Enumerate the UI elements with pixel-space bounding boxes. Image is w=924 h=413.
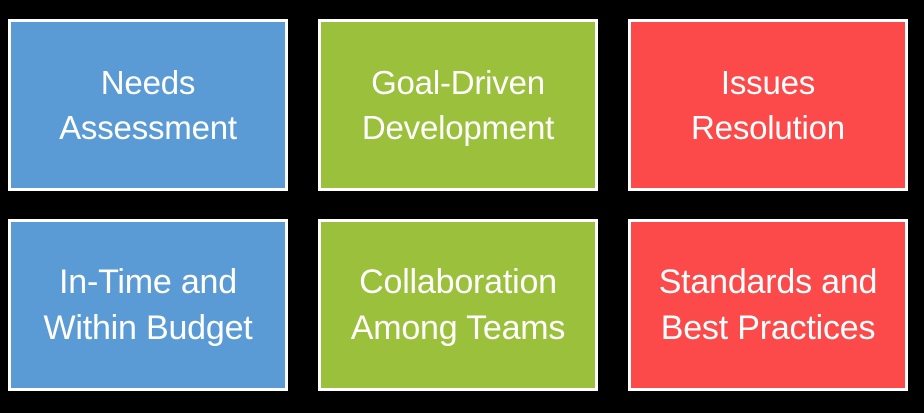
card-label: Collaboration Among Teams	[327, 259, 589, 351]
card-standards-and-best-practices[interactable]: Standards and Best Practices	[628, 219, 908, 391]
card-label: Needs Assessment	[17, 60, 279, 150]
card-issues-resolution[interactable]: Issues Resolution	[628, 19, 908, 191]
card-label: In-Time and Within Budget	[17, 259, 279, 351]
card-goal-driven-development[interactable]: Goal-Driven Development	[318, 19, 598, 191]
card-collaboration-among-teams[interactable]: Collaboration Among Teams	[318, 219, 598, 391]
card-label: Issues Resolution	[637, 60, 899, 150]
card-label: Standards and Best Practices	[637, 259, 899, 351]
diagram-canvas: Needs Assessment Goal-Driven Development…	[0, 0, 924, 413]
card-label: Goal-Driven Development	[327, 60, 589, 150]
card-needs-assessment[interactable]: Needs Assessment	[8, 19, 288, 191]
card-in-time-and-within-budget[interactable]: In-Time and Within Budget	[8, 219, 288, 391]
card-grid: Needs Assessment Goal-Driven Development…	[8, 19, 913, 390]
